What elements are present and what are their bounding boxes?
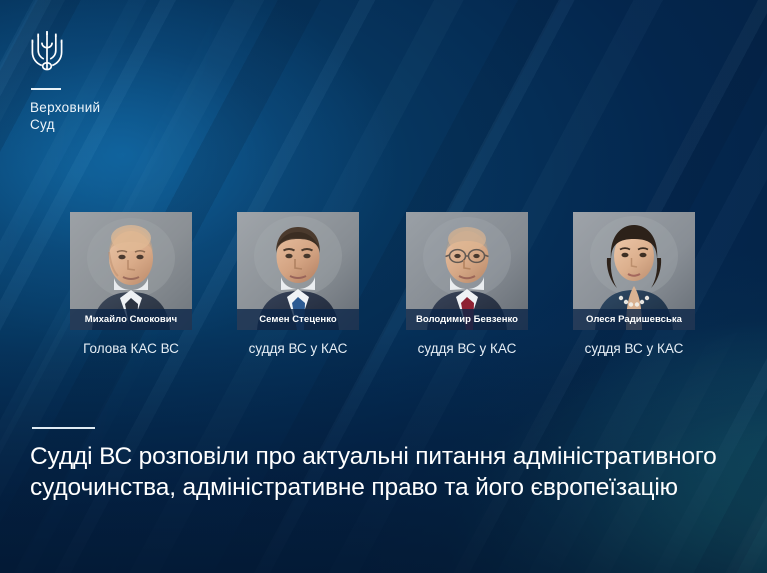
judge-photo-1: Михайло Смокович: [70, 212, 192, 330]
ukraine-trident-icon: [30, 28, 64, 74]
supreme-court-logo: Верховний Суд: [30, 28, 150, 133]
judge-name-3: Володимир Бевзенко: [416, 314, 518, 325]
announcement-card: Верховний Суд: [0, 0, 767, 573]
judge-card-2[interactable]: Семен Стеценко суддя ВС у КАС: [237, 212, 359, 356]
logo-divider: [31, 88, 61, 90]
judge-card-3[interactable]: Володимир Бевзенко суддя ВС у КАС: [406, 212, 528, 356]
judge-role-3: суддя ВС у КАС: [406, 341, 528, 356]
judge-name-bar-4: Олеся Радишевська: [573, 309, 695, 330]
judge-name-bar-2: Семен Стеценко: [237, 309, 359, 330]
headline-divider: [32, 427, 95, 429]
judge-name-4: Олеся Радишевська: [586, 314, 682, 325]
judge-name-2: Семен Стеценко: [259, 314, 337, 325]
judge-photo-3: Володимир Бевзенко: [406, 212, 528, 330]
judge-name-bar-1: Михайло Смокович: [70, 309, 192, 330]
page-title: Судді ВС розповіли про актуальні питання…: [30, 441, 735, 503]
logo-brand-text: Верховний Суд: [30, 99, 150, 133]
judge-card-1[interactable]: Михайло Смокович Голова КАС ВС: [70, 212, 192, 356]
judge-name-1: Михайло Смокович: [85, 314, 178, 325]
judge-photo-4: Олеся Радишевська: [573, 212, 695, 330]
judge-role-4: суддя ВС у КАС: [573, 341, 695, 356]
judge-role-2: суддя ВС у КАС: [237, 341, 359, 356]
judge-photo-2: Семен Стеценко: [237, 212, 359, 330]
judge-card-4[interactable]: Олеся Радишевська суддя ВС у КАС: [573, 212, 695, 356]
judge-name-bar-3: Володимир Бевзенко: [406, 309, 528, 330]
judges-row: Михайло Смокович Голова КАС ВС: [0, 212, 767, 377]
judge-role-1: Голова КАС ВС: [70, 341, 192, 356]
